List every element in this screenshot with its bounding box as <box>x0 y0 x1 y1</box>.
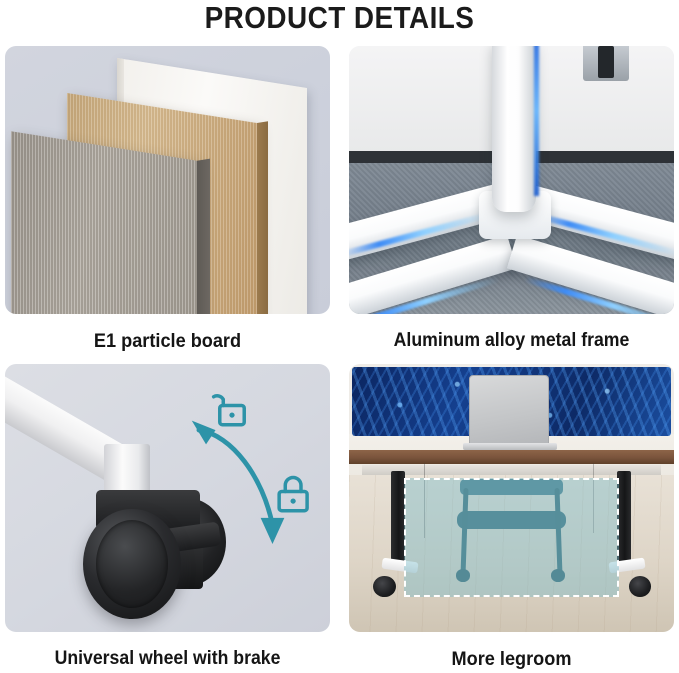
detail-card-e1-particle-board: E1 particle board <box>5 46 330 354</box>
laptop-base <box>463 443 557 450</box>
laptop <box>469 375 549 447</box>
caption-universal-wheel: Universal wheel with brake <box>16 632 318 672</box>
details-grid: E1 particle board Aluminum al <box>5 46 674 671</box>
caption-more-legroom: More legroom <box>360 632 662 672</box>
e1-particle-board-image <box>5 46 330 314</box>
vertical-column <box>492 46 536 212</box>
page-title: PRODUCT DETAILS <box>34 0 645 40</box>
frame-bracket <box>583 46 629 81</box>
column-led-accent <box>534 46 539 196</box>
product-details-page: PRODUCT DETAILS E1 particle board <box>0 0 679 673</box>
caption-aluminum-frame: Aluminum alloy metal frame <box>360 314 662 354</box>
desk-leg-post-left <box>391 471 405 562</box>
detail-card-aluminum-frame: Aluminum alloy metal frame <box>349 46 674 354</box>
unlocked-padlock-icon <box>210 388 252 428</box>
universal-wheel-image <box>5 364 330 632</box>
desk-caster-left <box>373 576 396 597</box>
desk-leg-post-right <box>617 471 631 562</box>
legroom-highlight-area <box>404 478 619 597</box>
detail-card-more-legroom: More legroom <box>349 364 674 672</box>
grey-woodgrain-board <box>11 131 197 314</box>
aluminum-frame-image <box>349 46 674 314</box>
more-legroom-image <box>349 364 674 632</box>
desk-top-surface <box>349 450 674 465</box>
detail-card-universal-wheel: Universal wheel with brake <box>5 364 330 672</box>
caption-e1-particle-board: E1 particle board <box>16 314 318 354</box>
caster-front-wheel <box>83 509 181 619</box>
locked-padlock-icon <box>272 474 314 514</box>
